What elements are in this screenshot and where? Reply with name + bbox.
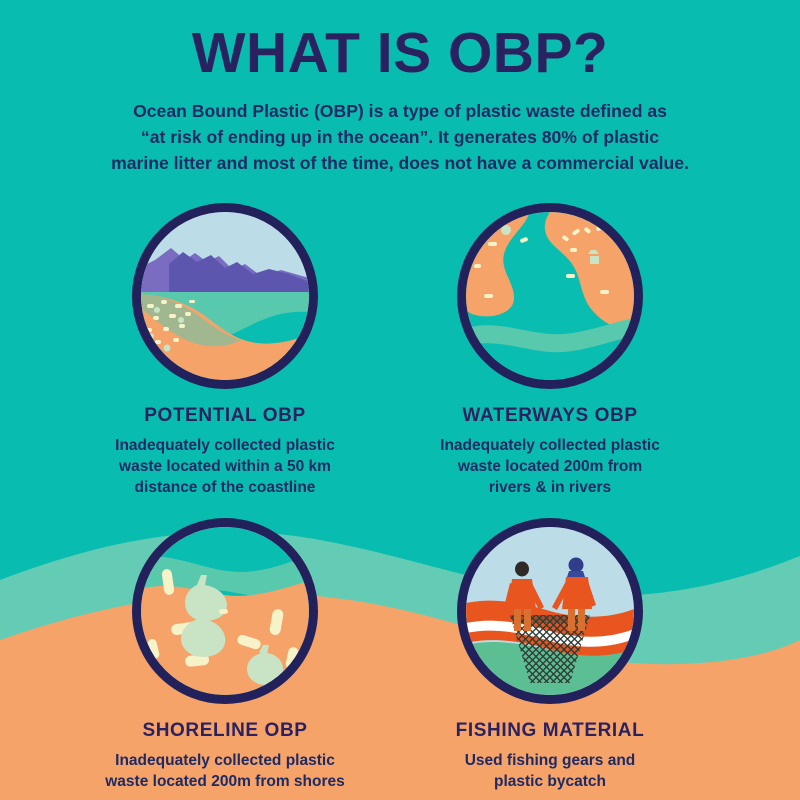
circle-wrap-shoreline-obp bbox=[132, 518, 318, 704]
category-shoreline-obp: SHORELINE OBP Inadequately collected pla… bbox=[55, 518, 395, 792]
page-subtitle: Ocean Bound Plastic (OBP) is a type of p… bbox=[90, 98, 710, 176]
category-waterways-obp: WATERWAYS OBP Inadequately collected pla… bbox=[380, 203, 720, 498]
header: WHAT IS OBP? Ocean Bound Plastic (OBP) i… bbox=[0, 20, 800, 176]
category-description: Inadequately collected plastic waste loc… bbox=[75, 750, 375, 792]
desc-line-3: rivers & in rivers bbox=[400, 477, 700, 498]
category-title: FISHING MATERIAL bbox=[380, 720, 720, 742]
desc-line-1: Inadequately collected plastic bbox=[400, 435, 700, 456]
desc-line-2: plastic bycatch bbox=[400, 771, 700, 792]
subtitle-line-2: “at risk of ending up in the ocean”. It … bbox=[90, 124, 710, 150]
circle-wrap-potential-obp bbox=[132, 203, 318, 389]
category-potential-obp: POTENTIAL OBP Inadequately collected pla… bbox=[55, 203, 395, 498]
subtitle-line-3: marine litter and most of the time, does… bbox=[90, 150, 710, 176]
category-description: Inadequately collected plastic waste loc… bbox=[400, 435, 700, 498]
category-description: Used fishing gears and plastic bycatch bbox=[400, 750, 700, 792]
shoreline-debris-icon bbox=[132, 518, 318, 704]
desc-line-2: waste located within a 50 km bbox=[75, 456, 375, 477]
category-description: Inadequately collected plastic waste loc… bbox=[75, 435, 375, 498]
river-icon bbox=[457, 203, 643, 389]
desc-line-2: waste located 200m from bbox=[400, 456, 700, 477]
desc-line-1: Used fishing gears and bbox=[400, 750, 700, 771]
fishing-net-icon bbox=[457, 518, 643, 704]
coastline-icon bbox=[132, 203, 318, 389]
page-title: WHAT IS OBP? bbox=[0, 20, 800, 86]
category-title: WATERWAYS OBP bbox=[380, 405, 720, 427]
circle-wrap-fishing-material bbox=[457, 518, 643, 704]
desc-line-2: waste located 200m from shores bbox=[75, 771, 375, 792]
obp-infographic: WHAT IS OBP? Ocean Bound Plastic (OBP) i… bbox=[0, 0, 800, 800]
category-title: POTENTIAL OBP bbox=[55, 405, 395, 427]
category-fishing-material: FISHING MATERIAL Used fishing gears and … bbox=[380, 518, 720, 792]
desc-line-1: Inadequately collected plastic bbox=[75, 750, 375, 771]
subtitle-line-1: Ocean Bound Plastic (OBP) is a type of p… bbox=[90, 98, 710, 124]
category-title: SHORELINE OBP bbox=[55, 720, 395, 742]
circle-wrap-waterways-obp bbox=[457, 203, 643, 389]
desc-line-3: distance of the coastline bbox=[75, 477, 375, 498]
desc-line-1: Inadequately collected plastic bbox=[75, 435, 375, 456]
